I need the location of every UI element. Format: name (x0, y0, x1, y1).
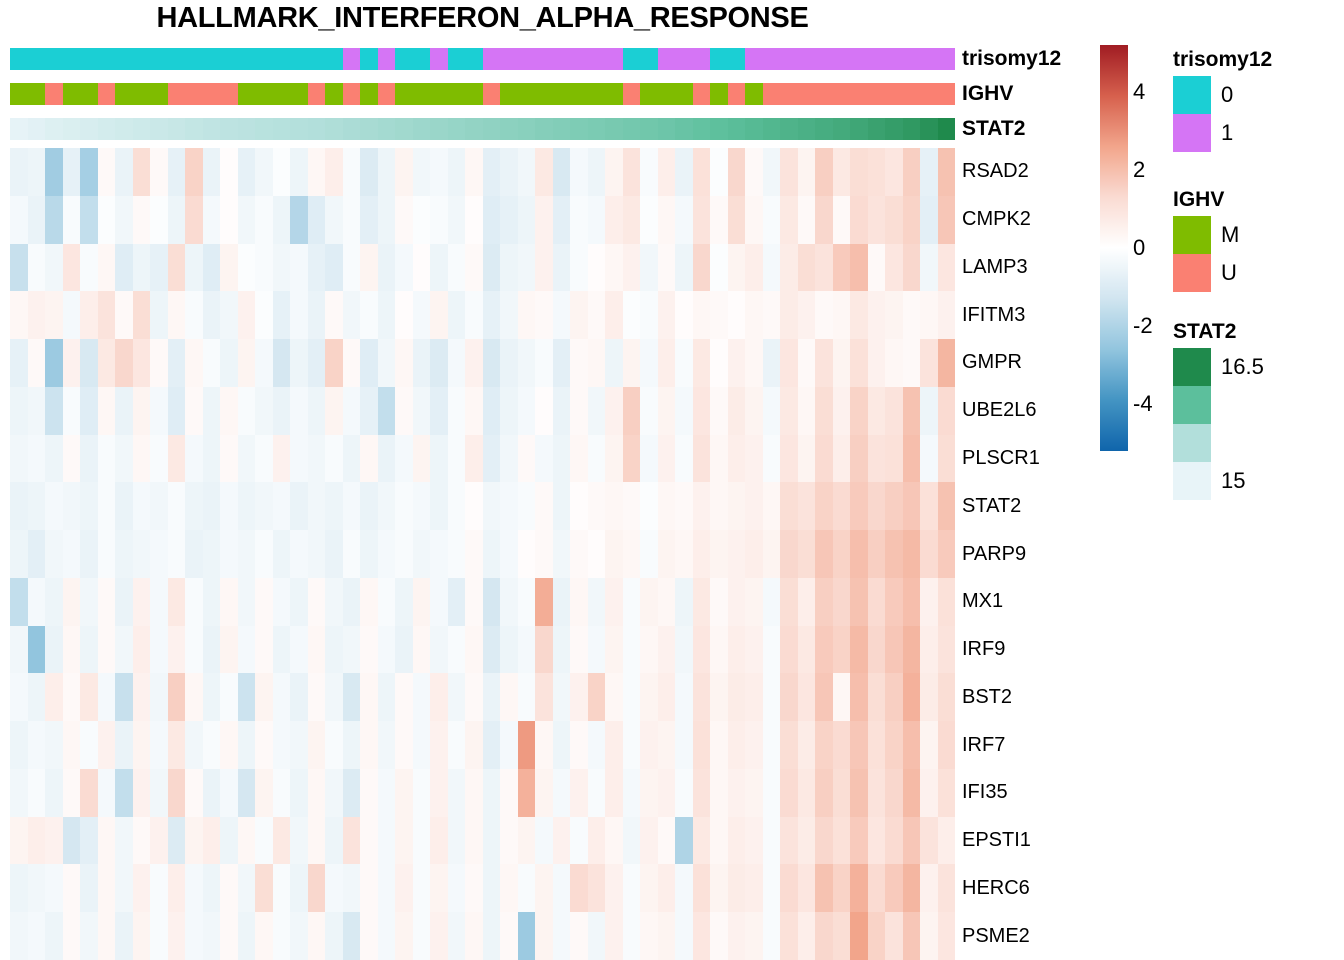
heatmap-cell (518, 626, 536, 674)
heatmap-cell (710, 339, 728, 387)
heatmap-cell (115, 196, 133, 244)
annotation-cell (588, 48, 606, 70)
heatmap-cell (238, 291, 256, 339)
heatmap-cell (28, 769, 46, 817)
annotation-cell (203, 83, 221, 105)
annotation-cell (238, 48, 256, 70)
heatmap-cell (168, 864, 186, 912)
heatmap-cell (938, 721, 956, 769)
heatmap-cell (360, 912, 378, 960)
heatmap-cell (850, 339, 868, 387)
heatmap-cell (570, 673, 588, 721)
heatmap-cell (693, 291, 711, 339)
heatmap-cell (640, 912, 658, 960)
annotation-cell (290, 83, 308, 105)
annotation-cell (413, 48, 431, 70)
annotation-cell (553, 118, 571, 140)
heatmap-cell (850, 864, 868, 912)
heatmap-cell (605, 673, 623, 721)
heatmap-row (10, 530, 955, 578)
heatmap-cell (308, 339, 326, 387)
annotation-cell (833, 83, 851, 105)
annotation-cell (290, 118, 308, 140)
heatmap-cell (150, 530, 168, 578)
annotation-cell (710, 118, 728, 140)
heatmap-cell (745, 339, 763, 387)
heatmap-cell (98, 769, 116, 817)
heatmap-cell (63, 673, 81, 721)
heatmap-cell (938, 387, 956, 435)
heatmap-cell (290, 387, 308, 435)
heatmap-cell (430, 387, 448, 435)
heatmap-cell (168, 482, 186, 530)
heatmap-cell (500, 769, 518, 817)
heatmap-cell (693, 387, 711, 435)
heatmap-cell (273, 482, 291, 530)
legend-stat2: STAT216.5 15 (1173, 320, 1264, 500)
heatmap-cell (483, 817, 501, 865)
heatmap-cell (658, 769, 676, 817)
heatmap-cell (658, 817, 676, 865)
heatmap-cell (640, 196, 658, 244)
legend-swatch (1173, 76, 1211, 114)
heatmap-cell (640, 673, 658, 721)
heatmap-cell (798, 244, 816, 292)
legend-swatch (1173, 254, 1211, 292)
heatmap-cell (45, 864, 63, 912)
heatmap-cell (833, 769, 851, 817)
annotation-cell (903, 118, 921, 140)
heatmap-cell (80, 291, 98, 339)
heatmap-cell (133, 435, 151, 483)
heatmap-cell (45, 148, 63, 196)
heatmap-row (10, 244, 955, 292)
heatmap-cell (203, 291, 221, 339)
heatmap-cell (763, 435, 781, 483)
heatmap-cell (815, 912, 833, 960)
heatmap-cell (675, 530, 693, 578)
heatmap-cell (238, 721, 256, 769)
annotation-cell (693, 118, 711, 140)
heatmap-cell (325, 291, 343, 339)
heatmap-cell (290, 482, 308, 530)
annotation-cell (728, 83, 746, 105)
heatmap-cell (238, 339, 256, 387)
heatmap-cell (290, 148, 308, 196)
heatmap-row (10, 864, 955, 912)
heatmap-cell (203, 673, 221, 721)
heatmap-cell (798, 769, 816, 817)
heatmap-cell (658, 578, 676, 626)
heatmap-cell (518, 148, 536, 196)
annotation-cell (220, 118, 238, 140)
heatmap-cell (80, 482, 98, 530)
heatmap-cell (185, 673, 203, 721)
heatmap-cell (308, 244, 326, 292)
annotation-cell (238, 83, 256, 105)
heatmap-cell (255, 817, 273, 865)
legend-item[interactable] (1173, 424, 1264, 462)
heatmap-cell (588, 291, 606, 339)
heatmap-cell (133, 482, 151, 530)
heatmap-cell (868, 578, 886, 626)
heatmap-cell (448, 196, 466, 244)
heatmap-cell (45, 578, 63, 626)
heatmap-cell (728, 482, 746, 530)
heatmap-cell (658, 530, 676, 578)
heatmap-cell (675, 578, 693, 626)
heatmap-cell (710, 530, 728, 578)
annotation-cell (885, 48, 903, 70)
heatmap-cell (623, 769, 641, 817)
heatmap-cell (150, 435, 168, 483)
heatmap-row-labels: RSAD2CMPK2LAMP3IFITM3GMPRUBE2L6PLSCR1STA… (962, 148, 1092, 960)
heatmap-cell (378, 578, 396, 626)
annotation-cell (710, 83, 728, 105)
heatmap-cell (535, 673, 553, 721)
heatmap-cell (518, 435, 536, 483)
annotation-cell (360, 48, 378, 70)
heatmap-cell (378, 482, 396, 530)
annotation-cell (500, 48, 518, 70)
heatmap-cell (710, 673, 728, 721)
heatmap-cell (535, 769, 553, 817)
heatmap-cell (745, 148, 763, 196)
annotation-cell (693, 48, 711, 70)
annotation-bar-ighv (10, 83, 955, 105)
heatmap-cell (413, 291, 431, 339)
heatmap-cell (378, 435, 396, 483)
heatmap-cell (833, 339, 851, 387)
heatmap-cell (483, 387, 501, 435)
heatmap-row (10, 148, 955, 196)
annotation-bar-stat2 (10, 118, 955, 140)
heatmap-cell (483, 912, 501, 960)
heatmap-cell (675, 339, 693, 387)
heatmap-cell (605, 387, 623, 435)
heatmap-cell (535, 817, 553, 865)
annotation-cell (500, 83, 518, 105)
heatmap-cell (938, 530, 956, 578)
heatmap-cell (63, 912, 81, 960)
heatmap-cell (938, 817, 956, 865)
heatmap-cell (448, 864, 466, 912)
heatmap-cell (763, 291, 781, 339)
heatmap-cell (115, 721, 133, 769)
heatmap-cell (850, 435, 868, 483)
legend-title-IGHV: IGHV (1173, 188, 1239, 212)
heatmap-cell (903, 291, 921, 339)
annotation-cell (483, 118, 501, 140)
heatmap-cell (10, 769, 28, 817)
heatmap-cell (745, 769, 763, 817)
heatmap-cell (920, 148, 938, 196)
heatmap-row-label: PLSCR1 (962, 435, 1092, 483)
annotation-cell (623, 83, 641, 105)
annotation-cell (588, 118, 606, 140)
heatmap-cell (238, 530, 256, 578)
heatmap-cell (500, 387, 518, 435)
heatmap-cell (675, 435, 693, 483)
heatmap-cell (500, 339, 518, 387)
heatmap-cell (500, 530, 518, 578)
heatmap-cell (815, 387, 833, 435)
heatmap-row-label: IRF9 (962, 626, 1092, 674)
legend-label: 15 (1221, 468, 1245, 494)
heatmap-cell (203, 339, 221, 387)
heatmap-cell (605, 196, 623, 244)
legend-item[interactable]: 16.5 (1173, 348, 1264, 386)
heatmap-cell (360, 626, 378, 674)
heatmap-cell (80, 626, 98, 674)
heatmap-cell (413, 196, 431, 244)
heatmap-cell (10, 864, 28, 912)
legend-label: 1 (1221, 120, 1233, 146)
heatmap-cell (273, 864, 291, 912)
heatmap-cell (255, 530, 273, 578)
heatmap-cell (553, 291, 571, 339)
heatmap-cell (780, 291, 798, 339)
heatmap-cell (728, 148, 746, 196)
legend-title-STAT2: STAT2 (1173, 320, 1264, 344)
heatmap-row (10, 769, 955, 817)
heatmap-cell (378, 530, 396, 578)
heatmap-cell (588, 673, 606, 721)
heatmap-cell (640, 482, 658, 530)
heatmap-cell (728, 435, 746, 483)
heatmap-cell (570, 148, 588, 196)
heatmap-cell (868, 339, 886, 387)
heatmap-cell (273, 626, 291, 674)
heatmap-cell (220, 387, 238, 435)
annotation-cell (763, 83, 781, 105)
legend-item[interactable]: 1 (1173, 114, 1272, 152)
annotation-cell (133, 83, 151, 105)
heatmap-cell (885, 578, 903, 626)
heatmap-cell (430, 148, 448, 196)
heatmap-cell (588, 482, 606, 530)
legend-item[interactable]: 0 (1173, 76, 1272, 114)
heatmap-cell (28, 291, 46, 339)
heatmap-cell (553, 244, 571, 292)
heatmap-cell (815, 244, 833, 292)
heatmap-cell (465, 482, 483, 530)
heatmap-cell (430, 244, 448, 292)
legend-swatch (1173, 462, 1211, 500)
heatmap-cell (98, 626, 116, 674)
heatmap-cell (360, 339, 378, 387)
heatmap-cell (798, 864, 816, 912)
heatmap-cell (868, 626, 886, 674)
heatmap-cell (833, 244, 851, 292)
heatmap-cell (395, 148, 413, 196)
heatmap-cell (903, 721, 921, 769)
heatmap-cell (80, 339, 98, 387)
heatmap-cell (728, 912, 746, 960)
heatmap-cell (185, 721, 203, 769)
heatmap-cell (290, 244, 308, 292)
heatmap-cell (115, 339, 133, 387)
heatmap-cell (430, 769, 448, 817)
heatmap-cell (745, 817, 763, 865)
heatmap-cell (238, 817, 256, 865)
heatmap-cell (10, 530, 28, 578)
annotation-cell (203, 118, 221, 140)
heatmap-row (10, 721, 955, 769)
heatmap-cell (448, 673, 466, 721)
heatmap-cell (98, 721, 116, 769)
heatmap-row-label: IFITM3 (962, 291, 1092, 339)
heatmap-cell (833, 626, 851, 674)
heatmap-cell (483, 435, 501, 483)
heatmap-cell (833, 673, 851, 721)
annotation-cell (553, 48, 571, 70)
heatmap-cell (623, 912, 641, 960)
heatmap-cell (588, 244, 606, 292)
heatmap-cell (868, 482, 886, 530)
heatmap-cell (570, 244, 588, 292)
page-title: HALLMARK_INTERFERON_ALPHA_RESPONSE (10, 2, 955, 35)
legend-item[interactable]: M (1173, 216, 1239, 254)
heatmap-cell (28, 817, 46, 865)
heatmap-cell (115, 435, 133, 483)
annotation-cell (465, 118, 483, 140)
heatmap-cell (395, 482, 413, 530)
heatmap-cell (850, 912, 868, 960)
heatmap-cell (168, 387, 186, 435)
heatmap-cell (728, 291, 746, 339)
annotation-cell (185, 118, 203, 140)
annotation-cell (658, 83, 676, 105)
heatmap-cell (938, 864, 956, 912)
annotation-cell (168, 48, 186, 70)
heatmap-cell (150, 482, 168, 530)
annotation-cell (780, 118, 798, 140)
heatmap-cell (885, 244, 903, 292)
heatmap-cell (220, 864, 238, 912)
heatmap-cell (570, 435, 588, 483)
heatmap-cell (640, 530, 658, 578)
heatmap-cell (640, 864, 658, 912)
heatmap-cell (98, 196, 116, 244)
heatmap-cell (238, 626, 256, 674)
heatmap-cell (675, 626, 693, 674)
heatmap-cell (745, 291, 763, 339)
heatmap-cell (308, 196, 326, 244)
heatmap-cell (465, 864, 483, 912)
heatmap-cell (553, 769, 571, 817)
heatmap-cell (220, 291, 238, 339)
heatmap-cell (868, 196, 886, 244)
annotation-cell (693, 83, 711, 105)
legend-item[interactable] (1173, 386, 1264, 424)
heatmap-cell (588, 864, 606, 912)
heatmap-cell (710, 912, 728, 960)
heatmap-cell (833, 435, 851, 483)
heatmap-cell (185, 291, 203, 339)
heatmap-cell (570, 339, 588, 387)
heatmap-cell (903, 530, 921, 578)
heatmap-cell (588, 435, 606, 483)
heatmap-cell (465, 244, 483, 292)
heatmap-cell (308, 291, 326, 339)
heatmap-cell (133, 626, 151, 674)
heatmap-cell (395, 578, 413, 626)
heatmap-cell (343, 673, 361, 721)
heatmap-cell (203, 435, 221, 483)
heatmap-cell (553, 912, 571, 960)
heatmap-cell (150, 673, 168, 721)
heatmap-cell (395, 530, 413, 578)
heatmap-cell (185, 339, 203, 387)
heatmap-row-label: MX1 (962, 578, 1092, 626)
heatmap-cell (798, 721, 816, 769)
heatmap-cell (63, 626, 81, 674)
legend-item[interactable]: 15 (1173, 462, 1264, 500)
heatmap-cell (80, 578, 98, 626)
heatmap-row-label: CMPK2 (962, 196, 1092, 244)
heatmap-cell (448, 626, 466, 674)
heatmap-cell (255, 482, 273, 530)
heatmap-cell (220, 530, 238, 578)
annotation-cell (150, 48, 168, 70)
heatmap-row-label: STAT2 (962, 482, 1092, 530)
heatmap-cell (133, 196, 151, 244)
heatmap-cell (640, 291, 658, 339)
annotation-cell (308, 83, 326, 105)
heatmap-cell (763, 244, 781, 292)
heatmap-cell (343, 817, 361, 865)
heatmap-cell (343, 435, 361, 483)
heatmap-cell (168, 148, 186, 196)
annotation-cell (28, 48, 46, 70)
heatmap-cell (98, 387, 116, 435)
heatmap-cell (640, 721, 658, 769)
heatmap-cell (483, 530, 501, 578)
heatmap-cell (360, 673, 378, 721)
heatmap-cell (273, 769, 291, 817)
annotation-cell (45, 118, 63, 140)
heatmap-cell (28, 482, 46, 530)
heatmap-cell (623, 387, 641, 435)
heatmap-cell (500, 912, 518, 960)
legend-swatch (1173, 114, 1211, 152)
heatmap-cell (168, 721, 186, 769)
heatmap-cell (133, 578, 151, 626)
heatmap-cell (798, 530, 816, 578)
heatmap-cell (535, 530, 553, 578)
heatmap-cell (833, 864, 851, 912)
annotation-cell (465, 48, 483, 70)
heatmap-cell (920, 578, 938, 626)
heatmap-cell (360, 148, 378, 196)
heatmap-cell (885, 291, 903, 339)
heatmap-cell (693, 626, 711, 674)
heatmap-cell (693, 721, 711, 769)
heatmap-cell (745, 196, 763, 244)
annotation-cell (448, 48, 466, 70)
heatmap-row (10, 196, 955, 244)
legend-item[interactable]: U (1173, 254, 1239, 292)
heatmap-cell (798, 148, 816, 196)
heatmap-row (10, 339, 955, 387)
heatmap-cell (518, 578, 536, 626)
colorbar-tick: 2 (1133, 157, 1145, 183)
heatmap-cell (885, 912, 903, 960)
annotation-cell (325, 48, 343, 70)
heatmap-cell (850, 291, 868, 339)
heatmap-cell (920, 769, 938, 817)
